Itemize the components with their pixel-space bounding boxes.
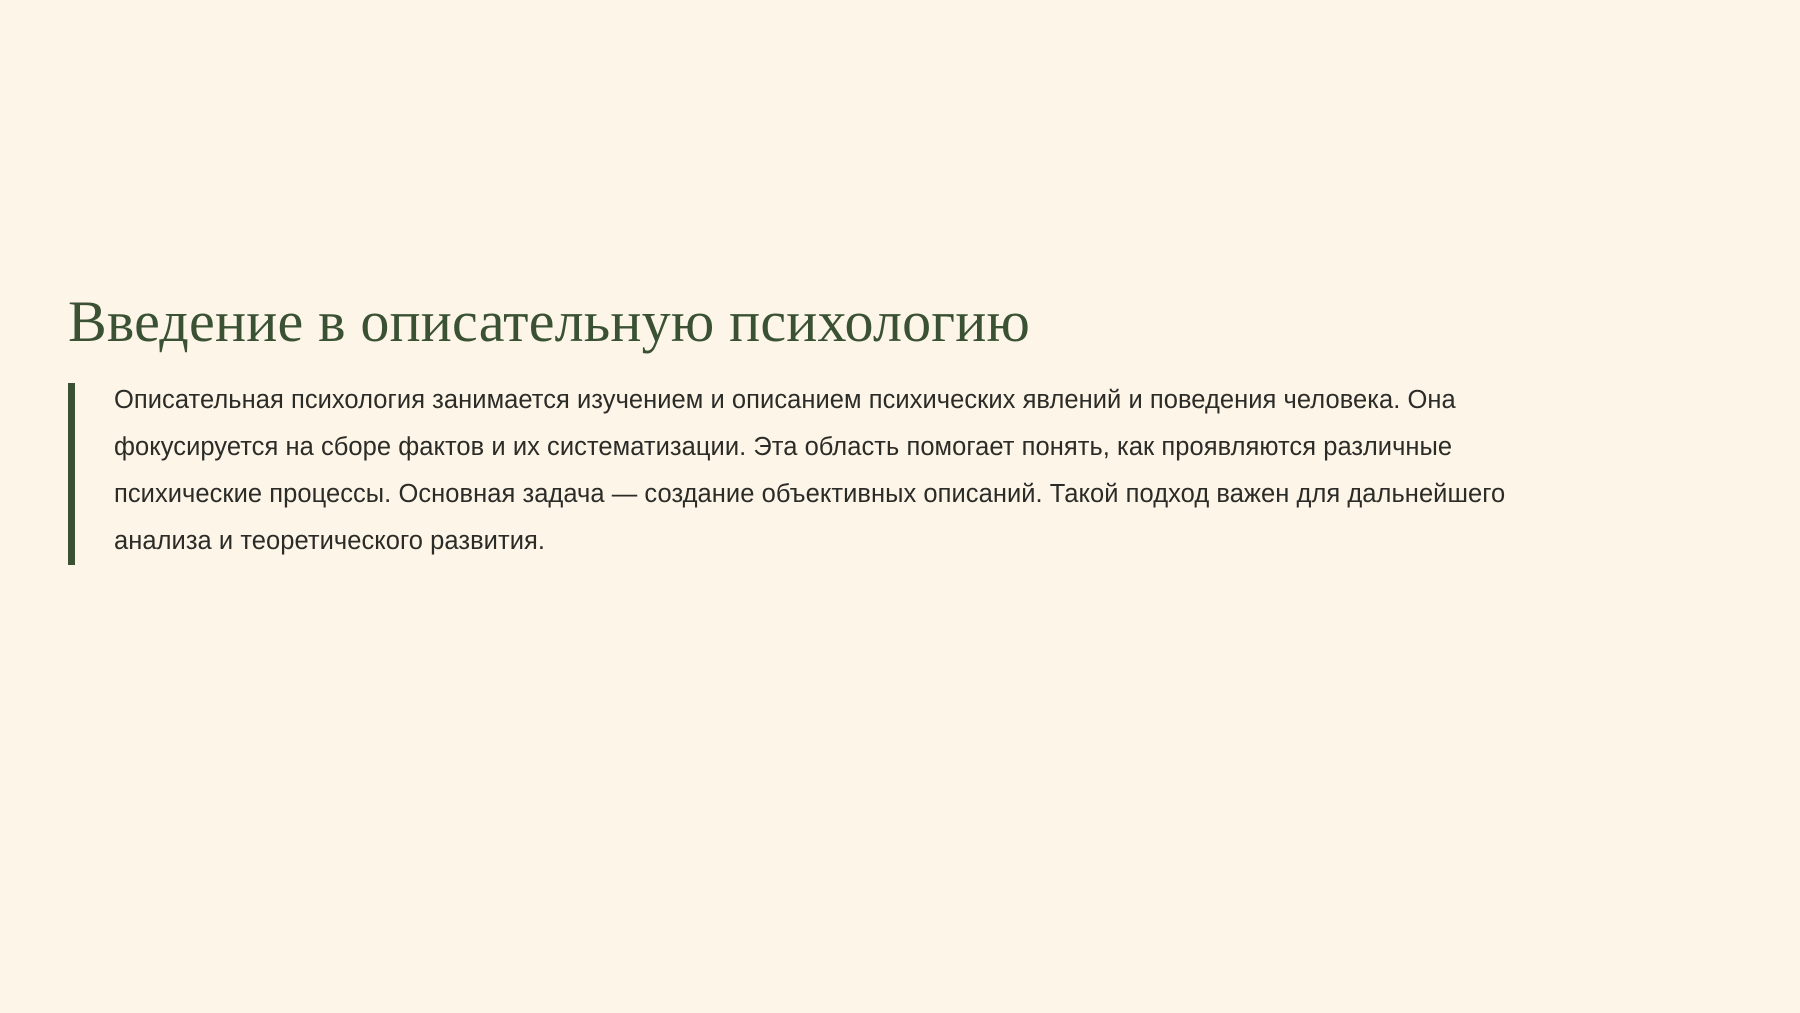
- body-section: Описательная психология занимается изуче…: [68, 377, 1728, 565]
- accent-bar: [68, 383, 75, 565]
- content-block: Введение в описательную психологию Описа…: [68, 290, 1728, 565]
- page-title: Введение в описательную психологию: [68, 290, 1728, 355]
- body-paragraph: Описательная психология занимается изуче…: [114, 377, 1534, 565]
- slide-canvas: Введение в описательную психологию Описа…: [0, 0, 1800, 1013]
